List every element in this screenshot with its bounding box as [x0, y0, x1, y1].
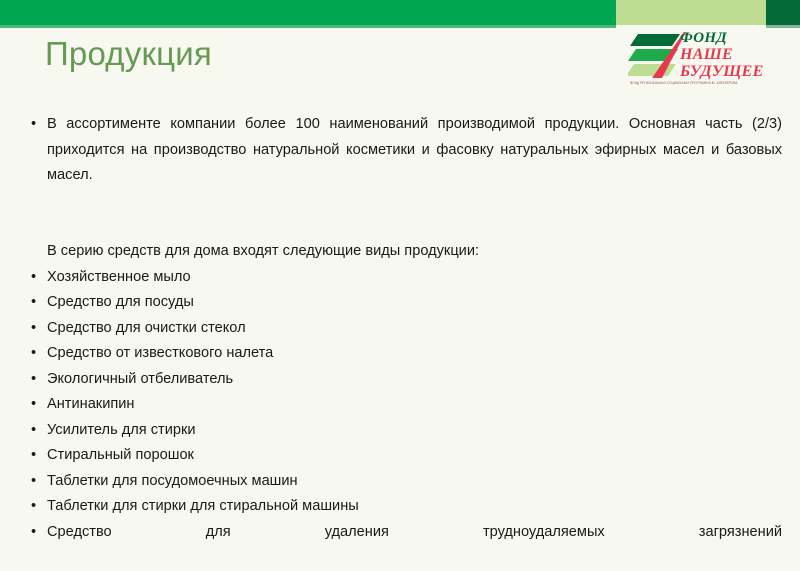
bullet-icon: • — [31, 341, 36, 367]
list-item-label: Таблетки для стирки для стиральной машин… — [47, 498, 359, 514]
list-item-label: Средство для очистки стекол — [47, 320, 246, 336]
list-item: • Стиральный порошок — [0, 443, 800, 469]
organization-logo: ФОНД НАШЕ БУДУЩЕЕ ФОНД РЕГИОНАЛЬНЫХ СОЦИ… — [628, 30, 788, 90]
topbar-underline — [0, 25, 616, 28]
list-item: • Средство для удаления трудноудаляемых … — [0, 520, 800, 571]
topbar-segment-dark-green — [766, 0, 800, 25]
bullet-icon: • — [31, 443, 36, 469]
bullet-icon: • — [31, 316, 36, 342]
product-list: • Хозяйственное мыло • Средство для посу… — [0, 265, 800, 520]
bullet-icon: • — [31, 367, 36, 393]
bullet-icon: • — [31, 418, 36, 444]
list-item: • Усилитель для стирки — [0, 418, 800, 444]
list-item-label: Хозяйственное мыло — [47, 269, 191, 285]
logo-word-budushee: БУДУЩЕЕ — [680, 63, 788, 80]
list-item-label: Стиральный порошок — [47, 447, 194, 463]
bullet-icon: • — [31, 494, 36, 520]
bullet-icon: • — [31, 265, 36, 291]
page-title: Продукция — [45, 34, 212, 74]
intro-paragraph-text: В ассортименте компании более 100 наимен… — [47, 116, 782, 183]
list-item-label: Средство для удаления трудноудаляемых за… — [47, 524, 782, 540]
list-item-label: Таблетки для посудомоечных машин — [47, 473, 298, 489]
topbar-segment-light-green — [616, 0, 766, 25]
list-item: • Таблетки для посудомоечных машин — [0, 469, 800, 495]
bullet-icon: • — [31, 112, 36, 138]
bullet-icon: • — [31, 520, 36, 546]
list-item-label: Усилитель для стирки — [47, 422, 196, 438]
list-item: • Таблетки для стирки для стиральной маш… — [0, 494, 800, 520]
paragraph-spacer — [0, 214, 800, 239]
topbar-segment-green — [0, 0, 616, 25]
list-item: • Средство для очистки стекол — [0, 316, 800, 342]
list-item: • Средство от известкового налета — [0, 341, 800, 367]
list-item-label: Антинакипин — [47, 396, 134, 412]
bullet-icon: • — [31, 392, 36, 418]
list-item-label: Средство для посуды — [47, 294, 194, 310]
slide-body: • В ассортименте компании более 100 наим… — [0, 112, 800, 571]
list-item: • Антинакипин — [0, 392, 800, 418]
logo-word-fond: ФОНД — [680, 31, 788, 46]
lead-line: В серию средств для дома входят следующи… — [0, 239, 800, 265]
list-item: • Хозяйственное мыло — [0, 265, 800, 291]
logo-mark-icon — [628, 32, 686, 78]
list-item-label: Экологичный отбеливатель — [47, 371, 233, 387]
topbar-underline-right — [766, 25, 800, 28]
bullet-icon: • — [31, 290, 36, 316]
list-item: • Экологичный отбеливатель — [0, 367, 800, 393]
list-item-label: Средство от известкового налета — [47, 345, 273, 361]
logo-word-nashe: НАШЕ — [680, 46, 788, 63]
top-decorative-bar — [0, 0, 800, 25]
intro-paragraph-block: • В ассортименте компании более 100 наим… — [0, 112, 800, 214]
list-item: • Средство для посуды — [0, 290, 800, 316]
logo-wordmark: ФОНД НАШЕ БУДУЩЕЕ — [680, 30, 788, 78]
bullet-icon: • — [31, 469, 36, 495]
logo-subtitle: ФОНД РЕГИОНАЛЬНЫХ СОЦИАЛЬНЫХ ПРОГРАММ В.… — [630, 80, 786, 85]
